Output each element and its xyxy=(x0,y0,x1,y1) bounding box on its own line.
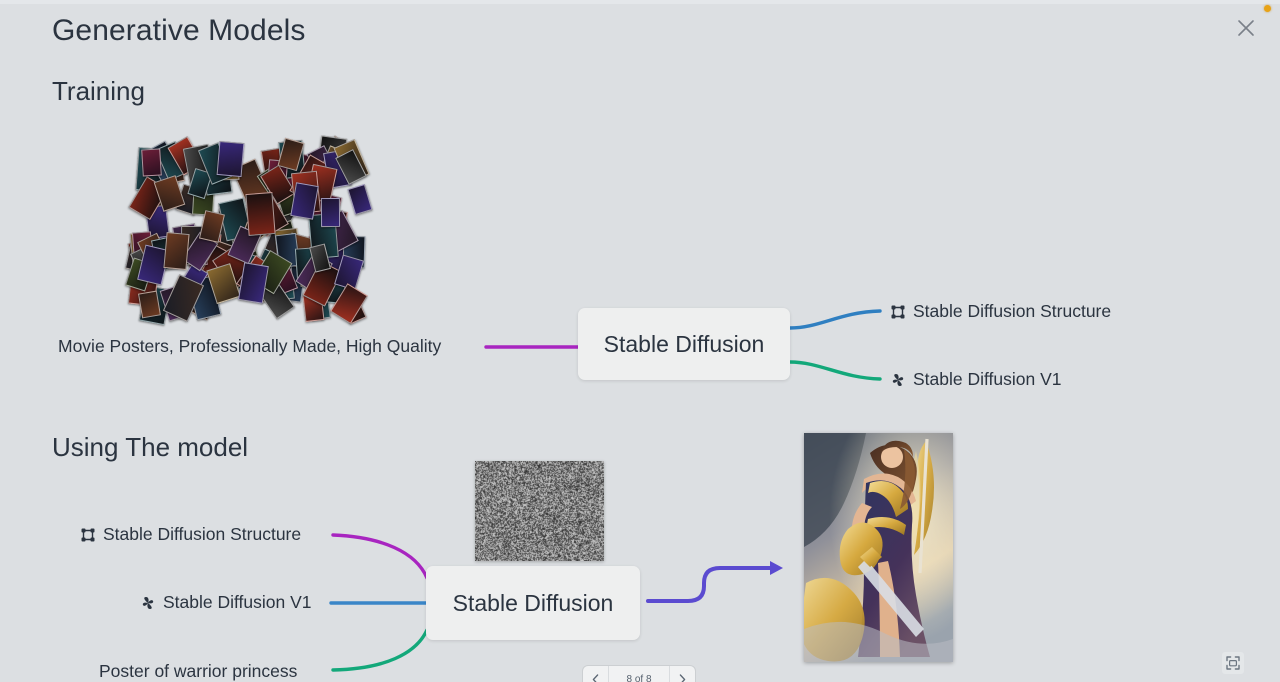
label-text: Stable Diffusion Structure xyxy=(913,301,1111,322)
pagination-next-button[interactable] xyxy=(670,666,695,682)
node-label: Stable Diffusion xyxy=(453,590,614,617)
wire-using-output-arrow xyxy=(648,568,772,601)
chevron-left-icon xyxy=(592,674,599,682)
poster-thumb xyxy=(246,192,276,236)
label-text: Movie Posters, Professionally Made, High… xyxy=(58,336,441,357)
label-training-output-structure: Stable Diffusion Structure xyxy=(890,301,1111,322)
page-title: Generative Models xyxy=(52,14,306,48)
section-heading-training: Training xyxy=(52,76,145,107)
label-text: Stable Diffusion V1 xyxy=(163,592,312,613)
poster-thumb xyxy=(347,184,372,215)
label-using-input-v1: Stable Diffusion V1 xyxy=(140,592,312,613)
generated-image xyxy=(804,433,953,662)
node-stable-diffusion-using[interactable]: Stable Diffusion xyxy=(426,566,640,640)
status-dot xyxy=(1264,5,1271,12)
label-text: Poster of warrior princess xyxy=(99,661,297,682)
structure-icon xyxy=(80,527,96,543)
label-using-input-prompt: Poster of warrior princess xyxy=(99,661,297,682)
label-text: Stable Diffusion Structure xyxy=(103,524,301,545)
wire-training-out-structure xyxy=(790,311,880,328)
pagination-count: 8 of 8 xyxy=(609,666,669,682)
close-icon[interactable] xyxy=(1234,16,1258,40)
label-training-input: Movie Posters, Professionally Made, High… xyxy=(58,336,441,357)
fullscreen-icon[interactable] xyxy=(1222,652,1244,674)
pagination-control[interactable]: 8 of 8 xyxy=(583,666,695,682)
noise-image xyxy=(475,461,604,561)
wire-using-in-structure xyxy=(333,535,427,578)
poster-thumb xyxy=(141,149,161,177)
structure-icon xyxy=(890,304,906,320)
wire-training-out-v1 xyxy=(790,362,880,379)
slide-canvas: Generative Models Training Using The mod… xyxy=(0,0,1280,682)
label-training-output-v1: Stable Diffusion V1 xyxy=(890,369,1062,390)
section-heading-using: Using The model xyxy=(52,432,248,463)
label-text: Stable Diffusion V1 xyxy=(913,369,1062,390)
wire-using-in-prompt xyxy=(333,630,427,670)
swirl-icon xyxy=(140,595,156,611)
node-label: Stable Diffusion xyxy=(604,331,765,358)
poster-thumb xyxy=(321,198,341,227)
label-using-input-structure: Stable Diffusion Structure xyxy=(80,524,301,545)
swirl-icon xyxy=(890,372,906,388)
dataset-collage-image xyxy=(133,142,368,320)
top-strip xyxy=(0,0,1280,4)
chevron-right-icon xyxy=(679,674,686,682)
poster-thumb xyxy=(217,141,244,177)
arrow-head-icon xyxy=(770,561,783,575)
poster-thumb xyxy=(163,232,189,270)
node-stable-diffusion-training[interactable]: Stable Diffusion xyxy=(578,308,790,380)
poster-thumb xyxy=(138,291,160,319)
pagination-prev-button[interactable] xyxy=(583,666,608,682)
